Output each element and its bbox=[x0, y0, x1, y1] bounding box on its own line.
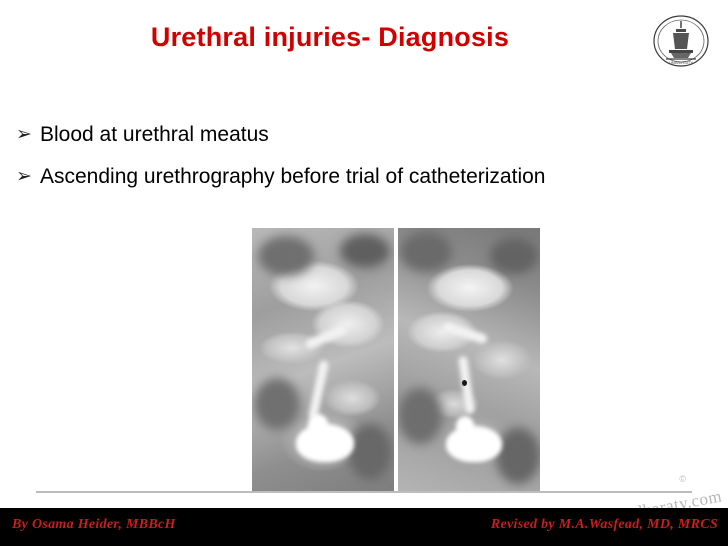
xray-shadow bbox=[400, 232, 452, 272]
bullet-arrow-icon: ➢ bbox=[16, 122, 40, 148]
slide: Urethral injuries- Diagnosis UNIVERSITY … bbox=[0, 0, 728, 546]
xray-shadow bbox=[258, 236, 314, 276]
bullet-arrow-icon: ➢ bbox=[16, 164, 40, 190]
xray-shadow bbox=[490, 238, 538, 274]
injury-marker-dot bbox=[462, 380, 467, 386]
footer-bar: By Osama Heider, MBBcH Revised by M.A.Wa… bbox=[0, 508, 728, 546]
contrast-pooling bbox=[308, 414, 328, 436]
bullet-list: ➢ Blood at urethral meatus ➢ Ascending u… bbox=[16, 122, 728, 206]
xray-image-right bbox=[398, 228, 540, 492]
contrast-pooling bbox=[456, 416, 474, 436]
svg-text:UNIVERSITY: UNIVERSITY bbox=[669, 60, 693, 65]
contrast-pooling bbox=[446, 426, 502, 462]
footer-divider bbox=[36, 491, 692, 493]
radiograph-pair bbox=[252, 228, 540, 492]
xray-shadow bbox=[348, 424, 392, 480]
university-emblem-icon: UNIVERSITY bbox=[652, 12, 710, 70]
list-item: ➢ Ascending urethrography before trial o… bbox=[16, 164, 728, 190]
xray-shadow bbox=[496, 428, 540, 484]
footer-author: By Osama Heider, MBBcH bbox=[12, 517, 176, 533]
bullet-text: Blood at urethral meatus bbox=[40, 122, 269, 148]
bullet-text: Ascending urethrography before trial of … bbox=[40, 164, 545, 190]
xray-shadow bbox=[340, 234, 390, 268]
xray-shadow bbox=[398, 388, 442, 444]
footer-reviser: Revised by M.A.Wasfead, MD, MRCS bbox=[491, 517, 718, 533]
list-item: ➢ Blood at urethral meatus bbox=[16, 122, 728, 148]
watermark-copyright-icon: © bbox=[679, 474, 686, 484]
page-title: Urethral injuries- Diagnosis bbox=[0, 22, 660, 53]
xray-shadow bbox=[254, 378, 300, 430]
xray-image-left bbox=[252, 228, 394, 492]
